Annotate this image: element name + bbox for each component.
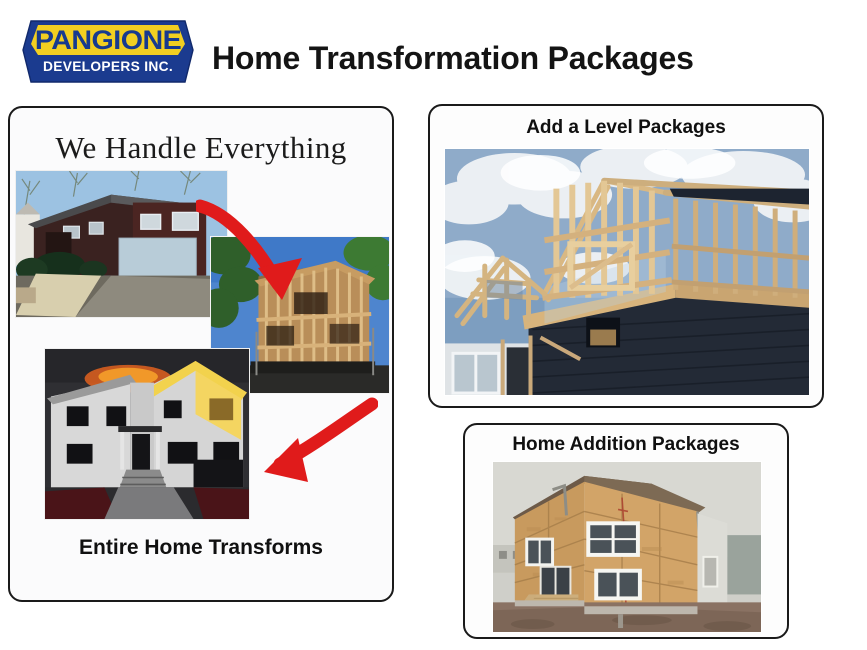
page-header: PANGIONE DEVELOPERS INC. Home Transforma… (0, 0, 867, 96)
photo-add-a-level (444, 148, 810, 396)
panel-add-a-level: Add a Level Packages (428, 104, 824, 408)
we-handle-everything-heading: We Handle Everything (10, 130, 392, 166)
add-a-level-art (445, 149, 809, 395)
panel-entire-home-transforms: We Handle Everything (8, 106, 394, 602)
after-house-art (45, 349, 249, 519)
panel-home-addition: Home Addition Packages (463, 423, 789, 639)
entire-home-transforms-caption: Entire Home Transforms (10, 536, 392, 560)
company-logo: PANGIONE DEVELOPERS INC. (22, 14, 194, 86)
photo-home-addition (492, 461, 762, 633)
photo-before-house (15, 170, 228, 318)
logo-brand-name: PANGIONE (17, 25, 199, 55)
photo-after-house (44, 348, 250, 520)
home-addition-art (493, 462, 761, 632)
logo-brand-tagline: DEVELOPERS INC. (20, 59, 195, 74)
home-addition-title: Home Addition Packages (465, 433, 787, 457)
arrow-framing-to-after-icon (246, 390, 378, 498)
before-house-art (16, 171, 227, 317)
page-title: Home Transformation Packages (212, 40, 694, 76)
add-a-level-title: Add a Level Packages (430, 116, 822, 140)
